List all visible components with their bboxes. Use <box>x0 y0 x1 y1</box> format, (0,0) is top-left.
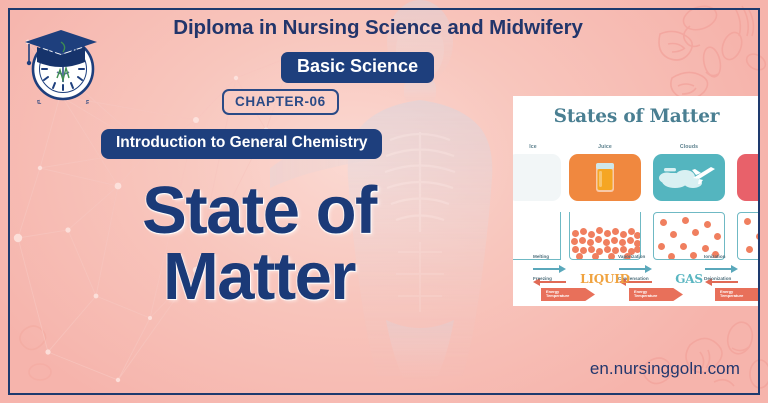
tile-fire <box>737 154 760 201</box>
page-title-line-2: Matter <box>24 244 494 310</box>
tile-label-clouds: Clouds <box>653 144 725 150</box>
particle-box-liquid <box>569 212 641 260</box>
tile-ice <box>513 154 561 201</box>
infographic-title: States of Matter <box>513 106 760 127</box>
energy-tag-2: EnergyTemperature <box>629 288 683 301</box>
site-url: en.nursinggoln.com <box>590 359 740 379</box>
topic-badge: Introduction to General Chemistry <box>101 129 382 159</box>
energy-tag-3: EnergyTemperature <box>715 288 760 301</box>
particle-box-gas <box>653 212 725 260</box>
tile-label-fire: Fire <box>733 144 760 150</box>
tile-label-ice: Ice <box>513 144 563 150</box>
transition-label-vaporization: Vaporization <box>618 254 645 259</box>
course-banner: Gurukul Nursing Midwifery & Patient Care… <box>0 0 768 403</box>
chapter-badge: CHAPTER-06 <box>222 89 339 115</box>
subject-badge: Basic Science <box>281 52 434 83</box>
particle-box-plasma <box>737 212 760 260</box>
page-title-line-1: State of <box>142 173 376 248</box>
juice-glass-icon <box>593 160 617 194</box>
transition-label-melting: Melting <box>533 254 549 259</box>
tile-label-juice: Juice <box>569 144 641 150</box>
course-title: Diploma in Nursing Science and Midwifery <box>118 16 638 40</box>
particle-box-solid <box>513 212 561 260</box>
gurukul-nursing-logo: Gurukul Nursing Midwifery & Patient Care <box>23 22 101 104</box>
state-word-gas: GAS <box>653 272 725 286</box>
page-title: State of Matter <box>24 178 494 311</box>
transition-label-ionization: Ionization <box>704 254 725 259</box>
transition-label-freezing: Freezing <box>533 276 552 281</box>
energy-tag-1: EnergyTemperature <box>541 288 595 301</box>
state-word-liquid: LIQUID <box>569 272 641 286</box>
clouds-plane-icon <box>659 159 719 195</box>
states-of-matter-infographic: States of Matter Ice Juice Clouds Fire <box>513 96 760 306</box>
